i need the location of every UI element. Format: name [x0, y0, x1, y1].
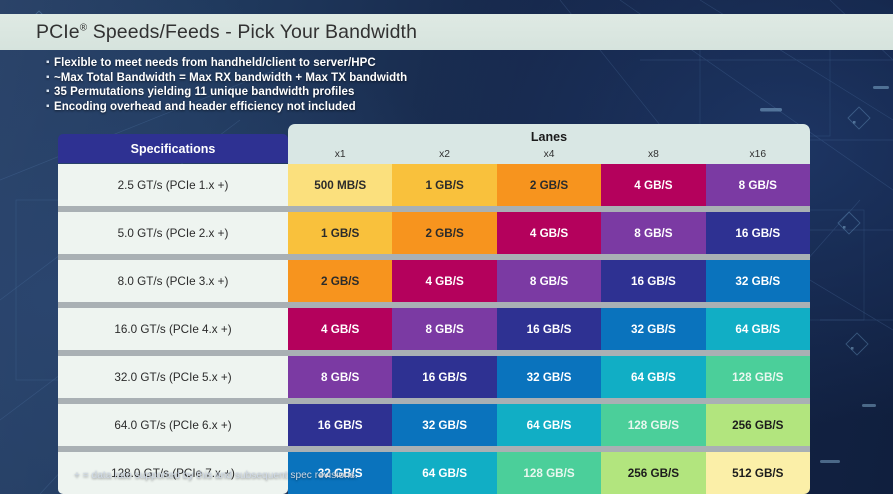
bandwidth-cell: 16 GB/S	[706, 212, 810, 254]
bullet-item: ▪~Max Total Bandwidth = Max RX bandwidth…	[46, 71, 407, 86]
bullet-marker-icon: ▪	[46, 100, 54, 115]
bandwidth-cell: 8 GB/S	[392, 308, 496, 350]
bandwidth-cell: 4 GB/S	[392, 260, 496, 302]
bandwidth-cell: 64 GB/S	[706, 308, 810, 350]
bullet-marker-icon: ▪	[46, 56, 54, 71]
bandwidth-cell: 4 GB/S	[288, 308, 392, 350]
lanes-header: Lanesx1x2x4x8x16	[288, 124, 810, 164]
lane-column-header-x4: x4	[497, 145, 601, 164]
bandwidth-cell: 64 GB/S	[392, 452, 496, 494]
bandwidth-cell: 32 GB/S	[601, 308, 705, 350]
bandwidth-cell: 128 GB/S	[497, 452, 601, 494]
bandwidth-cell: 32 GB/S	[497, 356, 601, 398]
bandwidth-cell: 2 GB/S	[497, 164, 601, 206]
bandwidth-cell: 256 GB/S	[601, 452, 705, 494]
bandwidth-cell: 4 GB/S	[497, 212, 601, 254]
bandwidth-cell: 32 GB/S	[706, 260, 810, 302]
bullet-item: ▪35 Permutations yielding 11 unique band…	[46, 85, 407, 100]
bandwidth-cell: 512 GB/S	[706, 452, 810, 494]
table-row: 8.0 GT/s (PCIe 3.x +)2 GB/S4 GB/S8 GB/S1…	[58, 260, 810, 302]
bandwidth-cell: 1 GB/S	[288, 212, 392, 254]
bandwidth-cell: 16 GB/S	[288, 404, 392, 446]
table-row: 5.0 GT/s (PCIe 2.x +)1 GB/S2 GB/S4 GB/S8…	[58, 212, 810, 254]
page-title-main: PCIe	[36, 21, 80, 43]
lane-column-header-x16: x16	[706, 145, 810, 164]
lane-column-header-x8: x8	[601, 145, 705, 164]
spec-cell: 32.0 GT/s (PCIe 5.x +)	[58, 356, 288, 398]
bandwidth-cell: 128 GB/S	[706, 356, 810, 398]
bandwidth-cell: 2 GB/S	[392, 212, 496, 254]
footnote: + = data rate supported by this and subs…	[74, 470, 358, 481]
bullet-item: ▪Flexible to meet needs from handheld/cl…	[46, 56, 407, 71]
bandwidth-cell: 8 GB/S	[497, 260, 601, 302]
lane-column-header-x2: x2	[392, 145, 496, 164]
bandwidth-cell: 32 GB/S	[392, 404, 496, 446]
bandwidth-cell: 8 GB/S	[601, 212, 705, 254]
page-title: PCIe® Speeds/Feeds - Pick Your Bandwidth	[36, 21, 417, 44]
bullet-marker-icon: ▪	[46, 71, 54, 86]
bullet-text: Encoding overhead and header efficiency …	[54, 100, 356, 115]
bandwidth-table: SpecificationsLanesx1x2x4x8x162.5 GT/s (…	[58, 124, 810, 494]
title-bar: PCIe® Speeds/Feeds - Pick Your Bandwidth	[0, 14, 893, 50]
spec-cell: 2.5 GT/s (PCIe 1.x +)	[58, 164, 288, 206]
bandwidth-cell: 16 GB/S	[392, 356, 496, 398]
lane-column-header-x1: x1	[288, 145, 392, 164]
bullet-item: ▪Encoding overhead and header efficiency…	[46, 100, 407, 115]
spec-cell: 5.0 GT/s (PCIe 2.x +)	[58, 212, 288, 254]
table-header-row: SpecificationsLanesx1x2x4x8x16	[58, 124, 810, 164]
bandwidth-cell: 500 MB/S	[288, 164, 392, 206]
spec-cell: 8.0 GT/s (PCIe 3.x +)	[58, 260, 288, 302]
bandwidth-cell: 4 GB/S	[601, 164, 705, 206]
bullet-list: ▪Flexible to meet needs from handheld/cl…	[46, 56, 407, 114]
lane-label-row: x1x2x4x8x16	[288, 145, 810, 164]
bandwidth-cell: 2 GB/S	[288, 260, 392, 302]
bandwidth-cell: 8 GB/S	[288, 356, 392, 398]
bullet-text: ~Max Total Bandwidth = Max RX bandwidth …	[54, 71, 407, 86]
bandwidth-cell: 8 GB/S	[706, 164, 810, 206]
spec-cell: 64.0 GT/s (PCIe 6.x +)	[58, 404, 288, 446]
specifications-header: Specifications	[58, 134, 288, 163]
bullet-text: Flexible to meet needs from handheld/cli…	[54, 56, 376, 71]
bullet-marker-icon: ▪	[46, 85, 54, 100]
table-row: 64.0 GT/s (PCIe 6.x +)16 GB/S32 GB/S64 G…	[58, 404, 810, 446]
bandwidth-cell: 1 GB/S	[392, 164, 496, 206]
bandwidth-cell: 64 GB/S	[497, 404, 601, 446]
bandwidth-cell: 256 GB/S	[706, 404, 810, 446]
bandwidth-cell: 16 GB/S	[601, 260, 705, 302]
bandwidth-cell: 16 GB/S	[497, 308, 601, 350]
lanes-header-label: Lanes	[288, 129, 810, 145]
bandwidth-cell: 128 GB/S	[601, 404, 705, 446]
spec-cell: 16.0 GT/s (PCIe 4.x +)	[58, 308, 288, 350]
page-title-rest: Speeds/Feeds - Pick Your Bandwidth	[87, 21, 417, 43]
table-row: 2.5 GT/s (PCIe 1.x +)500 MB/S1 GB/S2 GB/…	[58, 164, 810, 206]
table-row: 16.0 GT/s (PCIe 4.x +)4 GB/S8 GB/S16 GB/…	[58, 308, 810, 350]
bullet-text: 35 Permutations yielding 11 unique bandw…	[54, 85, 354, 100]
table-row: 32.0 GT/s (PCIe 5.x +)8 GB/S16 GB/S32 GB…	[58, 356, 810, 398]
bandwidth-cell: 64 GB/S	[601, 356, 705, 398]
